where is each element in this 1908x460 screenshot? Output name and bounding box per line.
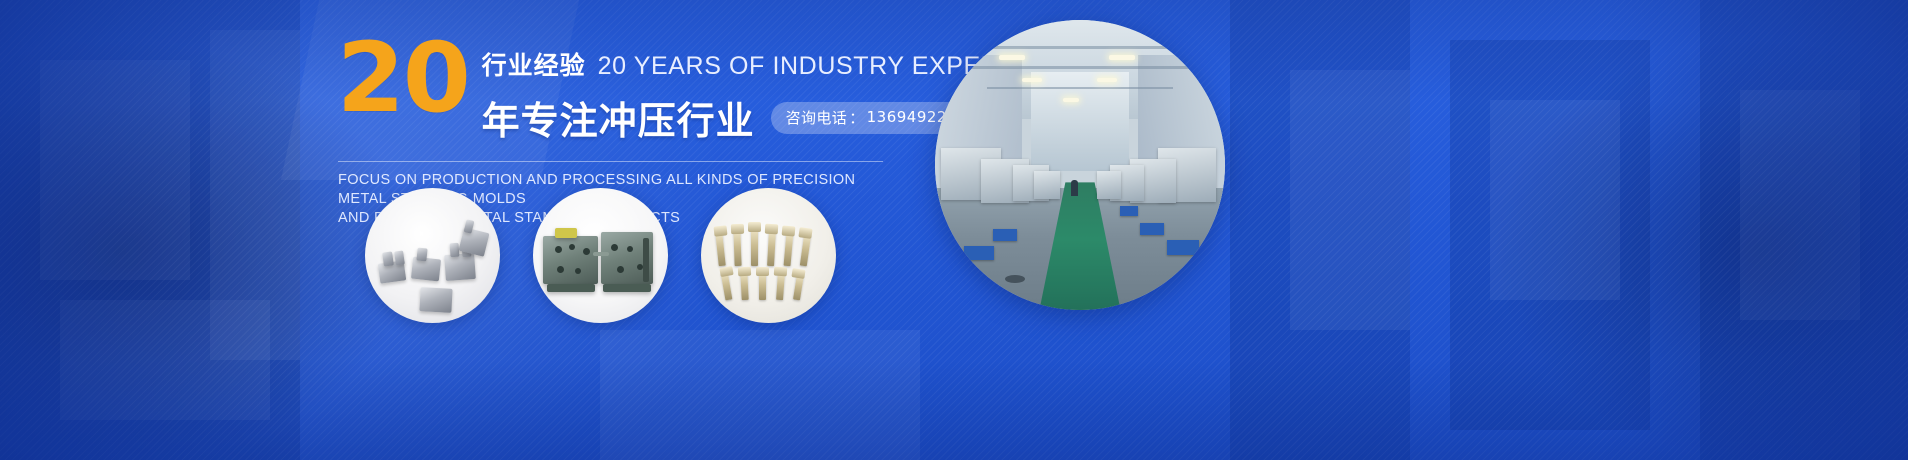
factory-blue-crate (1140, 223, 1164, 235)
factory-ceiling-beam (958, 46, 1202, 49)
factory-floor-object (1005, 275, 1025, 283)
product-circle-connectors[interactable] (365, 188, 500, 323)
headline-row: 20 行业经验 20 YEARS OF INDUSTRY EXPERIENCE … (338, 38, 898, 145)
factory-ceiling-beam (987, 87, 1173, 89)
product-circle-group (365, 188, 869, 323)
cn-focus-line: 年专注冲压行业 (482, 90, 755, 145)
factory-blue-crate (993, 229, 1017, 241)
factory-ceiling-lamp (1022, 78, 1042, 82)
factory-ceiling-lamp (1097, 78, 1117, 82)
factory-blue-crate (964, 246, 994, 260)
telephone-separator: ： (849, 107, 864, 128)
years-number: 20 (337, 38, 469, 118)
factory-worker (1071, 180, 1078, 196)
factory-ceiling-beam (970, 66, 1190, 69)
factory-blue-crate (1167, 240, 1199, 255)
divider-rule (338, 161, 883, 162)
factory-ceiling-lamp (1109, 55, 1135, 60)
factory-ceiling-lamp (999, 55, 1025, 60)
factory-ceiling-lamp (1063, 98, 1079, 102)
promo-banner: 20 行业经验 20 YEARS OF INDUSTRY EXPERIENCE … (0, 0, 1908, 460)
factory-machine (1034, 171, 1060, 199)
cn-experience-label: 行业经验 (482, 46, 586, 82)
telephone-label: 咨询电话 (786, 107, 848, 128)
product-circle-mold[interactable] (533, 188, 668, 323)
product-circle-pins[interactable] (701, 188, 836, 323)
factory-machine (1097, 171, 1121, 199)
factory-photo-circle[interactable] (935, 20, 1225, 310)
factory-blue-crate (1120, 206, 1138, 216)
